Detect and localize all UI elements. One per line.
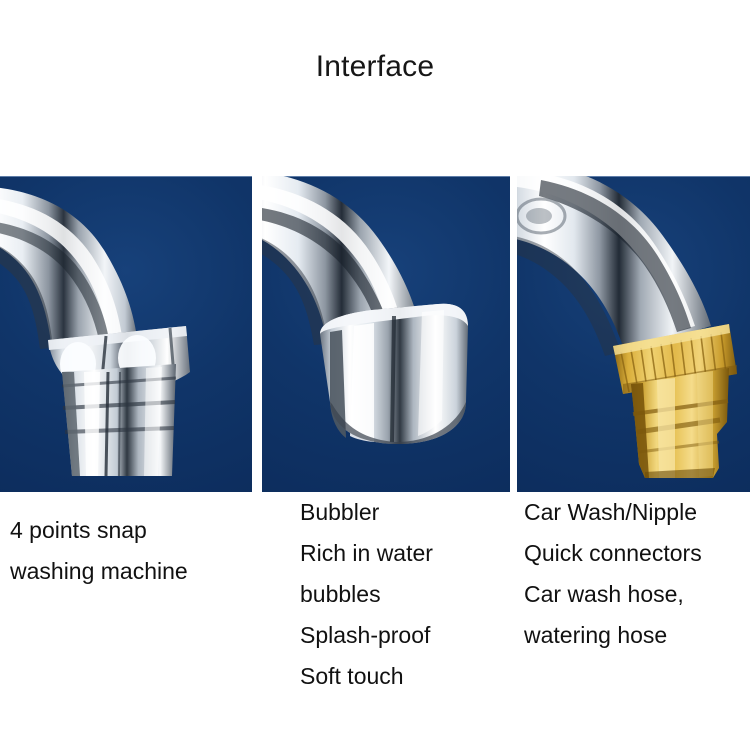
caption-line: Rich in water <box>300 533 433 574</box>
panel-car-wash-nipple <box>517 176 750 492</box>
caption-line: Quick connectors <box>524 533 702 574</box>
caption-line: bubbles <box>300 574 433 615</box>
panel-bubbler <box>262 176 510 492</box>
caption-line: Car wash hose, <box>524 574 702 615</box>
caption-car-wash-nipple: Car Wash/Nipple Quick connectors Car was… <box>524 492 702 656</box>
caption-four-point-snap: 4 points snap washing machine <box>10 510 188 592</box>
caption-line: Car Wash/Nipple <box>524 492 702 533</box>
caption-line: washing machine <box>10 551 188 592</box>
faucet-four-point-snap-image <box>0 176 252 492</box>
panel-four-point-snap <box>0 176 252 492</box>
product-image-strip <box>0 176 750 492</box>
caption-line: Splash-proof <box>300 615 433 656</box>
caption-bubbler: Bubbler Rich in water bubbles Splash-pro… <box>300 492 433 697</box>
faucet-bubbler-image <box>262 176 510 492</box>
faucet-brass-quick-connector-image <box>517 176 750 492</box>
caption-line: Bubbler <box>300 492 433 533</box>
caption-line: Soft touch <box>300 656 433 697</box>
page-title: Interface <box>0 52 750 82</box>
caption-line: watering hose <box>524 615 702 656</box>
caption-line: 4 points snap <box>10 510 188 551</box>
